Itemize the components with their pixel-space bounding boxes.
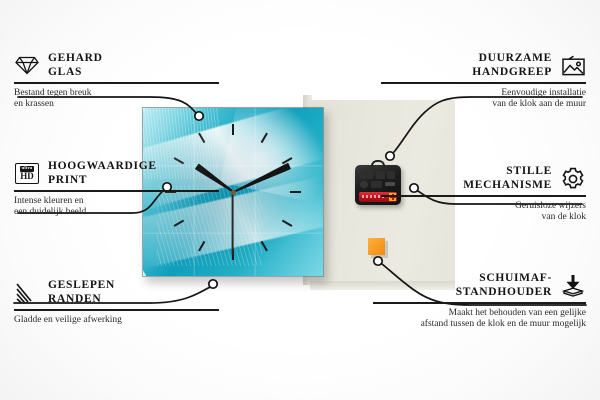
feature-description: Bestand tegen breuk en krassen [14, 88, 219, 111]
feature-description: Eenvoudige installatie van de klok aan d… [381, 88, 586, 111]
feature-title: DUURZAME HANDGREEP [472, 52, 552, 79]
gear-icon [560, 167, 586, 191]
feature-title: GEHARD GLAS [48, 52, 103, 79]
feature-title: GESLEPEN RANDEN [48, 279, 115, 306]
feature-schuimafstandhouder[interactable]: SCHUIMAF- STANDHOUDER Maakt het behouden… [373, 272, 586, 331]
feature-stille-mechanisme[interactable]: STILLE MECHANISME Geruisloze wijzers van… [381, 165, 586, 224]
feature-title: STILLE MECHANISME [463, 165, 552, 192]
clock-second-hand [232, 192, 234, 255]
ultra-hd-icon: ultra HD [14, 162, 40, 186]
feature-gehard-glas[interactable]: GEHARD GLAS Bestand tegen breuk en krass… [14, 52, 219, 111]
feature-description: Intense kleuren en een duidelijk beeld [14, 196, 219, 219]
feature-hoogwaardige-print[interactable]: ultra HD HOOGWAARDIGE PRINT Intense kleu… [14, 160, 219, 219]
diamond-icon [14, 54, 40, 78]
feature-description: Maakt het behouden van een gelijke afsta… [373, 308, 586, 331]
feature-duurzame-handgreep[interactable]: DUURZAME HANDGREEP Eenvoudige installati… [381, 52, 586, 111]
divider [373, 302, 586, 304]
divider [14, 190, 219, 192]
feature-description: Gladde en veilige afwerking [14, 315, 219, 327]
feature-description: Geruisloze wijzers van de klok [381, 201, 586, 224]
feature-geslepen-randen[interactable]: GESLEPEN RANDEN Gladde en veilige afwerk… [14, 279, 219, 326]
divider [381, 82, 586, 84]
beveled-edges-icon [14, 281, 40, 305]
divider [14, 309, 219, 311]
infographic-canvas: GEHARD GLAS Bestand tegen breuk en krass… [0, 0, 600, 400]
picture-frame-icon [560, 54, 586, 78]
foam-spacer [368, 238, 385, 255]
divider [14, 82, 219, 84]
feature-title: SCHUIMAF- STANDHOUDER [456, 272, 552, 299]
spacer-press-icon [560, 274, 586, 298]
divider [381, 195, 586, 197]
clock-center-cap [231, 190, 236, 195]
feature-title: HOOGWAARDIGE PRINT [48, 160, 157, 187]
